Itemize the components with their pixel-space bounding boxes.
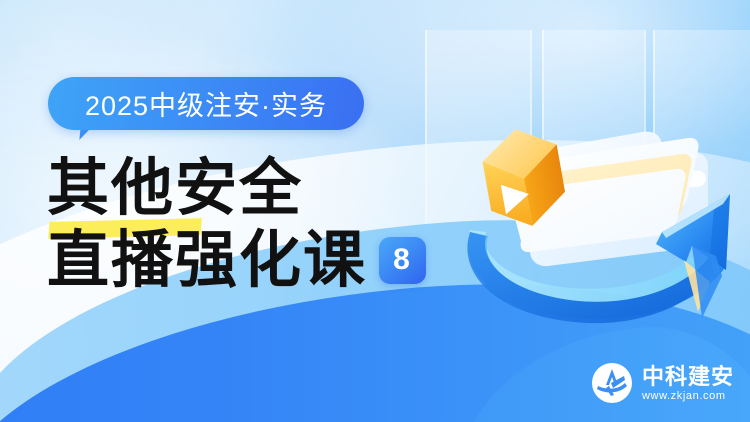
brand-logo: 中科建安 www.zkjan.com [591, 362, 734, 404]
course-category-badge: 2025中级注安·实务 [48, 77, 364, 130]
course-banner: 2025中级注安·实务 其他安全 直播强化课 8 中科建安 www [0, 0, 750, 422]
title-line-2-text: 直播强化课 [47, 224, 367, 296]
episode-number-badge: 8 [379, 237, 426, 284]
headline-block: 其他安全 直播强化课 8 [47, 152, 447, 296]
title-line-1: 其他安全 [47, 152, 447, 224]
course-illustration [430, 60, 750, 360]
episode-number: 8 [393, 245, 412, 275]
brand-url: www.zkjan.com [642, 389, 734, 403]
course-category-label: 2025中级注安·实务 [85, 84, 327, 123]
title-line-1-text: 其他安全 [47, 151, 303, 224]
zkjan-circle-mark-icon [591, 362, 633, 404]
brand-logo-text: 中科建安 www.zkjan.com [642, 364, 734, 403]
brand-name: 中科建安 [642, 364, 734, 389]
title-line-2: 直播强化课 8 [47, 224, 447, 296]
